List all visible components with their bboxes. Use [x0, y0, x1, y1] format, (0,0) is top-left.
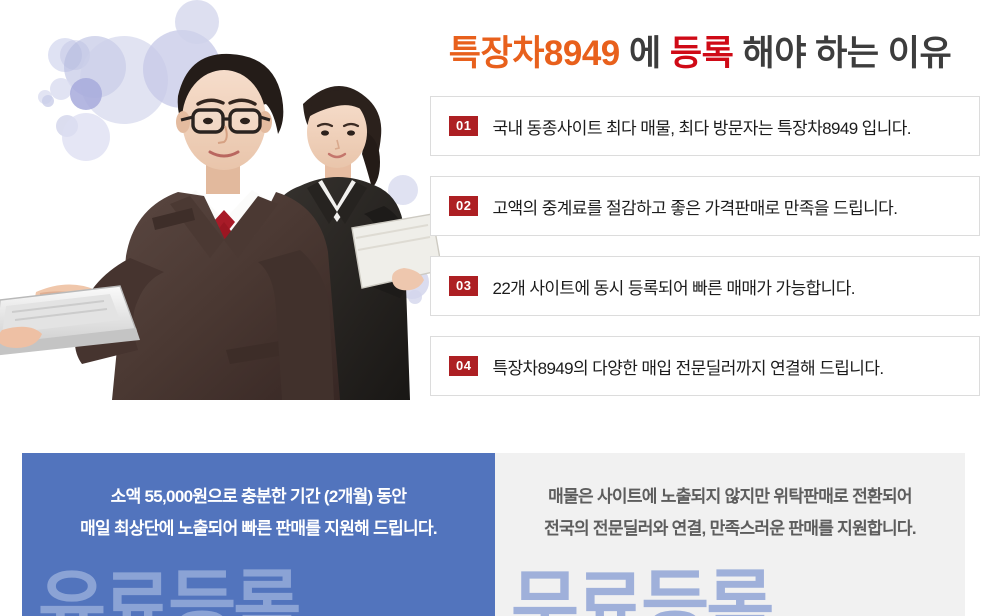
reason-text: 22개 사이트에 동시 등록되어 빠른 매매가 가능합니다. [492, 274, 854, 299]
promo-page: 특장차8949 에 등록 해야 하는 이유 01 국내 동종사이트 최다 매물,… [0, 0, 990, 616]
reason-item-02: 02 고액의 중계료를 절감하고 좋은 가격판매로 만족을 드립니다. [430, 176, 980, 236]
reason-number-badge: 01 [449, 116, 478, 136]
reason-item-03: 03 22개 사이트에 동시 등록되어 빠른 매매가 가능합니다. [430, 256, 980, 316]
paid-panel-line-2: 매일 최상단에 노출되어 빠른 판매를 지원해 드립니다. [22, 513, 495, 545]
reason-number-badge: 02 [449, 196, 478, 216]
free-panel-text: 매물은 사이트에 노출되지 않지만 위탁판매로 전환되어 전국의 전문딜러와 연… [495, 481, 965, 545]
reason-text: 특장차8949의 다양한 매입 전문딜러까지 연결해 드립니다. [492, 354, 883, 379]
reason-item-01: 01 국내 동종사이트 최다 매물, 최다 방문자는 특장차8949 입니다. [430, 96, 980, 156]
free-registration-panel: 매물은 사이트에 노출되지 않지만 위탁판매로 전환되어 전국의 전문딜러와 연… [495, 453, 965, 616]
reason-text: 국내 동종사이트 최다 매물, 최다 방문자는 특장차8949 입니다. [492, 114, 910, 139]
businessman-with-laptop [0, 54, 340, 400]
people-illustration [0, 0, 440, 400]
title-accent: 등록 [670, 34, 733, 73]
free-panel-line-1: 매물은 사이트에 노출되지 않지만 위탁판매로 전환되어 [495, 481, 965, 513]
paid-panel-watermark: 유료등록 [38, 568, 298, 616]
title-tail: 해야 하는 이유 [733, 34, 951, 73]
free-panel-line-2: 전국의 전문딜러와 연결, 만족스러운 판매를 지원합니다. [495, 513, 965, 545]
reason-text: 고액의 중계료를 절감하고 좋은 가격판매로 만족을 드립니다. [492, 194, 897, 219]
paid-panel-line-1: 소액 55,000원으로 충분한 기간 (2개월) 동안 [22, 481, 495, 513]
hero-photo [0, 0, 440, 400]
free-panel-watermark: 무료등록 [511, 568, 771, 616]
reason-list: 01 국내 동종사이트 최다 매물, 최다 방문자는 특장차8949 입니다. … [430, 96, 980, 416]
title-brand: 특장차8949 [449, 34, 620, 73]
page-title: 특장차8949 에 등록 해야 하는 이유 [420, 30, 980, 78]
reason-number-badge: 04 [449, 356, 478, 376]
title-middle: 에 [620, 34, 670, 73]
reason-item-04: 04 특장차8949의 다양한 매입 전문딜러까지 연결해 드립니다. [430, 336, 980, 396]
reason-number-badge: 03 [449, 276, 478, 296]
paid-panel-text: 소액 55,000원으로 충분한 기간 (2개월) 동안 매일 최상단에 노출되… [22, 481, 495, 545]
paid-registration-panel: 소액 55,000원으로 충분한 기간 (2개월) 동안 매일 최상단에 노출되… [22, 453, 495, 616]
